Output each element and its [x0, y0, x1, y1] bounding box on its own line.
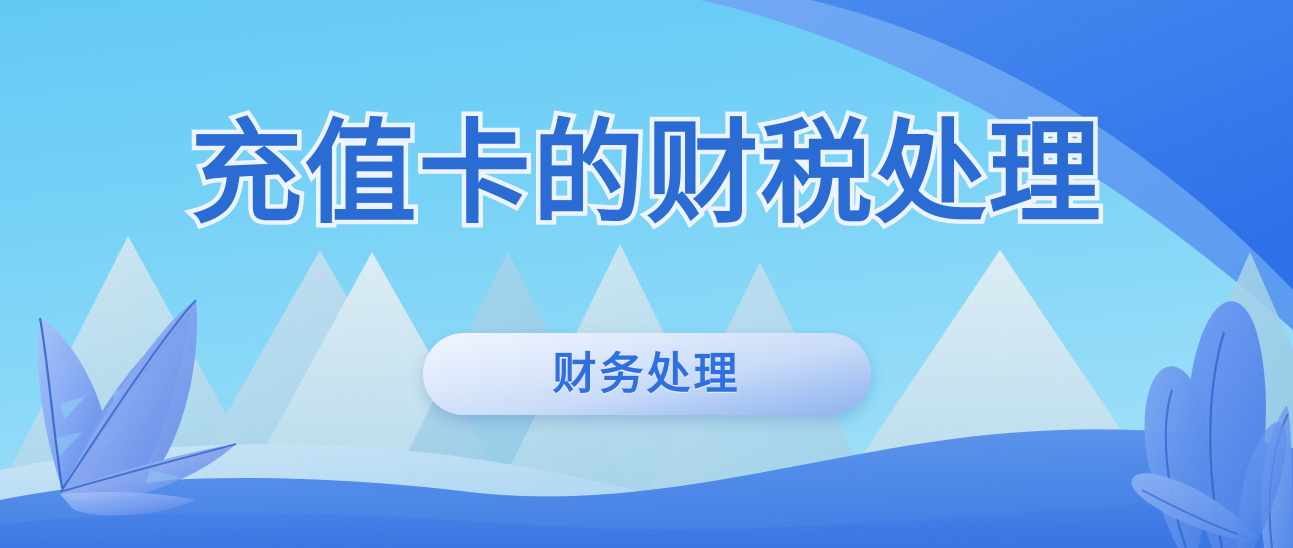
- pill-button-wrap: 财务处理: [0, 333, 1293, 415]
- background-artwork: [0, 0, 1293, 548]
- promo-banner: 充值卡的财税处理 财务处理: [0, 0, 1293, 548]
- category-pill-label: 财务处理: [553, 348, 741, 399]
- category-pill-button[interactable]: 财务处理: [423, 333, 871, 415]
